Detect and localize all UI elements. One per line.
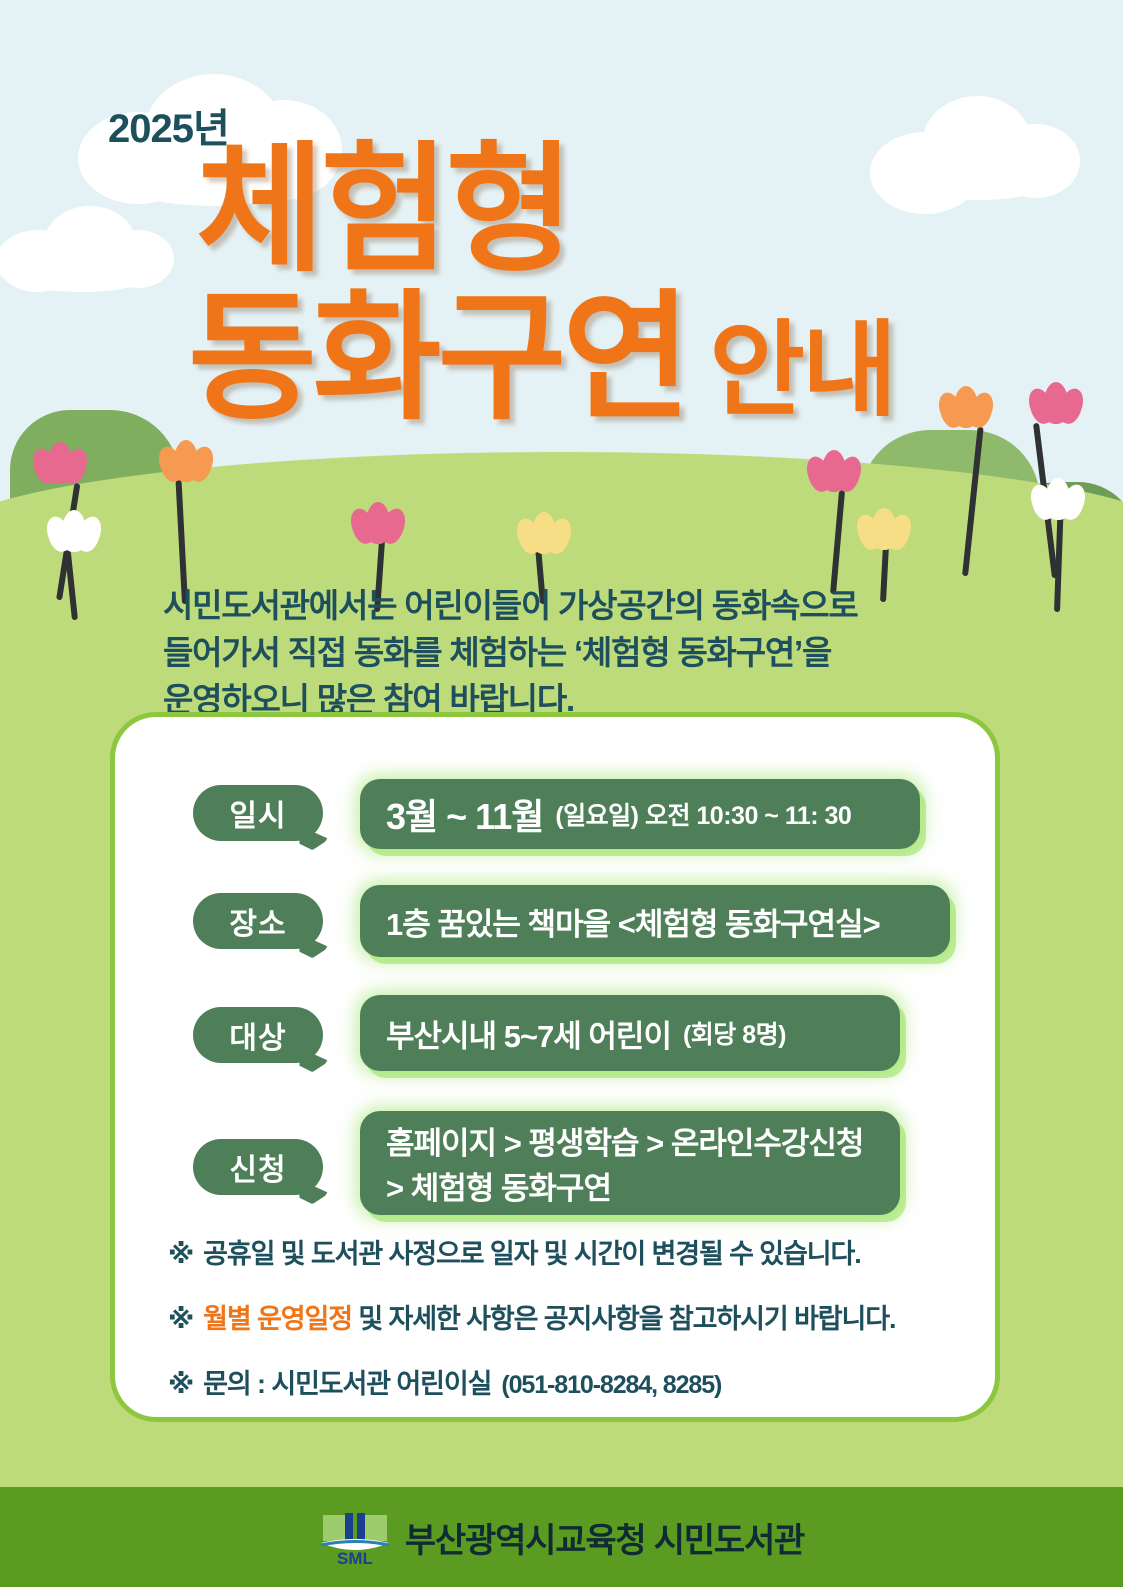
- title-line-2: 동화구연안내: [188, 288, 895, 428]
- bubble-tail-icon: [298, 1045, 330, 1073]
- info-value-place-text: 1층 꿈있는 책마을 <체험형 동화구연실>: [386, 899, 880, 944]
- info-label-date: 일시: [193, 785, 323, 841]
- info-label-apply: 신청: [193, 1139, 323, 1195]
- note-mark-icon: ※: [168, 1239, 193, 1269]
- bubble-tail-icon: [298, 931, 330, 959]
- info-value-date-main: 3월 ~ 11월: [386, 788, 543, 840]
- bubble-tail-icon: [298, 823, 330, 851]
- note-highlight-2: 월별 운영일정: [203, 1304, 352, 1334]
- logo-sml-text: SML: [337, 1549, 373, 1567]
- info-label-place-text: 장소: [229, 899, 286, 943]
- info-value-target: 부산시내 5~7세 어린이 (회당 8명): [360, 995, 900, 1071]
- library-logo: SML 부산광역시교육청 시민도서관: [319, 1507, 804, 1567]
- contact-phone: (051-810-8284, 8285): [501, 1371, 721, 1399]
- info-label-target: 대상: [193, 1007, 323, 1063]
- note-text-3: 문의 : 시민도서관 어린이실: [203, 1369, 491, 1399]
- info-value-date-detail: (일요일) 오전 10:30 ~ 11: 30: [555, 796, 851, 832]
- intro-line-2: 들어가서 직접 동화를 체험하는 ‘체험형 동화구연’을: [163, 630, 963, 677]
- info-label-apply-text: 신청: [229, 1145, 286, 1189]
- info-label-target-text: 대상: [229, 1013, 286, 1057]
- info-label-date-text: 일시: [229, 791, 286, 835]
- note-item-3: ※문의 : 시민도서관 어린이실(051-810-8284, 8285): [168, 1362, 998, 1401]
- intro-line-1: 시민도서관에서는 어린이들이 가상공간의 동화속으로: [163, 583, 963, 630]
- poster: 2025년 체험형 동화구연안내 시민도서관에서는 어린이들이 가상공간의 동화…: [0, 0, 1123, 1587]
- info-value-date: 3월 ~ 11월 (일요일) 오전 10:30 ~ 11: 30: [360, 779, 920, 849]
- open-book-svg: SML: [319, 1507, 391, 1567]
- info-label-place: 장소: [193, 893, 323, 949]
- note-item-2: ※월별 운영일정 및 자세한 사항은 공지사항을 참고하시기 바랍니다.: [168, 1297, 998, 1336]
- title-line-2-main: 동화구연: [188, 279, 687, 436]
- info-value-target-main: 부산시내 5~7세 어린이: [386, 1011, 671, 1056]
- title-line-1: 체험형: [196, 140, 570, 280]
- bubble-tail-icon: [298, 1177, 330, 1205]
- open-book-icon: SML: [319, 1507, 391, 1567]
- info-value-target-detail: (회당 8명): [683, 1015, 786, 1051]
- info-value-place: 1층 꿈있는 책마을 <체험형 동화구연실>: [360, 885, 950, 957]
- note-mark-icon: ※: [168, 1304, 193, 1334]
- organization-name: 부산광역시교육청 시민도서관: [405, 1513, 804, 1562]
- info-value-apply-line-1: 홈페이지 > 평생학습 > 온라인수강신청: [386, 1118, 863, 1163]
- note-text-1: 공휴일 및 도서관 사정으로 일자 및 시간이 변경될 수 있습니다.: [203, 1239, 861, 1269]
- note-mark-icon: ※: [168, 1369, 193, 1399]
- intro-paragraph: 시민도서관에서는 어린이들이 가상공간의 동화속으로 들어가서 직접 동화를 체…: [163, 583, 963, 724]
- note-text-2: 및 자세한 사항은 공지사항을 참고하시기 바랍니다.: [352, 1304, 895, 1334]
- notes-list: ※공휴일 및 도서관 사정으로 일자 및 시간이 변경될 수 있습니다. ※월별…: [168, 1232, 998, 1427]
- footer-bar: SML 부산광역시교육청 시민도서관: [0, 1487, 1123, 1587]
- info-value-apply: 홈페이지 > 평생학습 > 온라인수강신청 > 체험형 동화구연: [360, 1111, 900, 1215]
- note-item-1: ※공휴일 및 도서관 사정으로 일자 및 시간이 변경될 수 있습니다.: [168, 1232, 998, 1271]
- title-line-2-sub: 안내: [709, 313, 894, 429]
- info-value-apply-line-2: > 체험형 동화구연: [386, 1163, 611, 1208]
